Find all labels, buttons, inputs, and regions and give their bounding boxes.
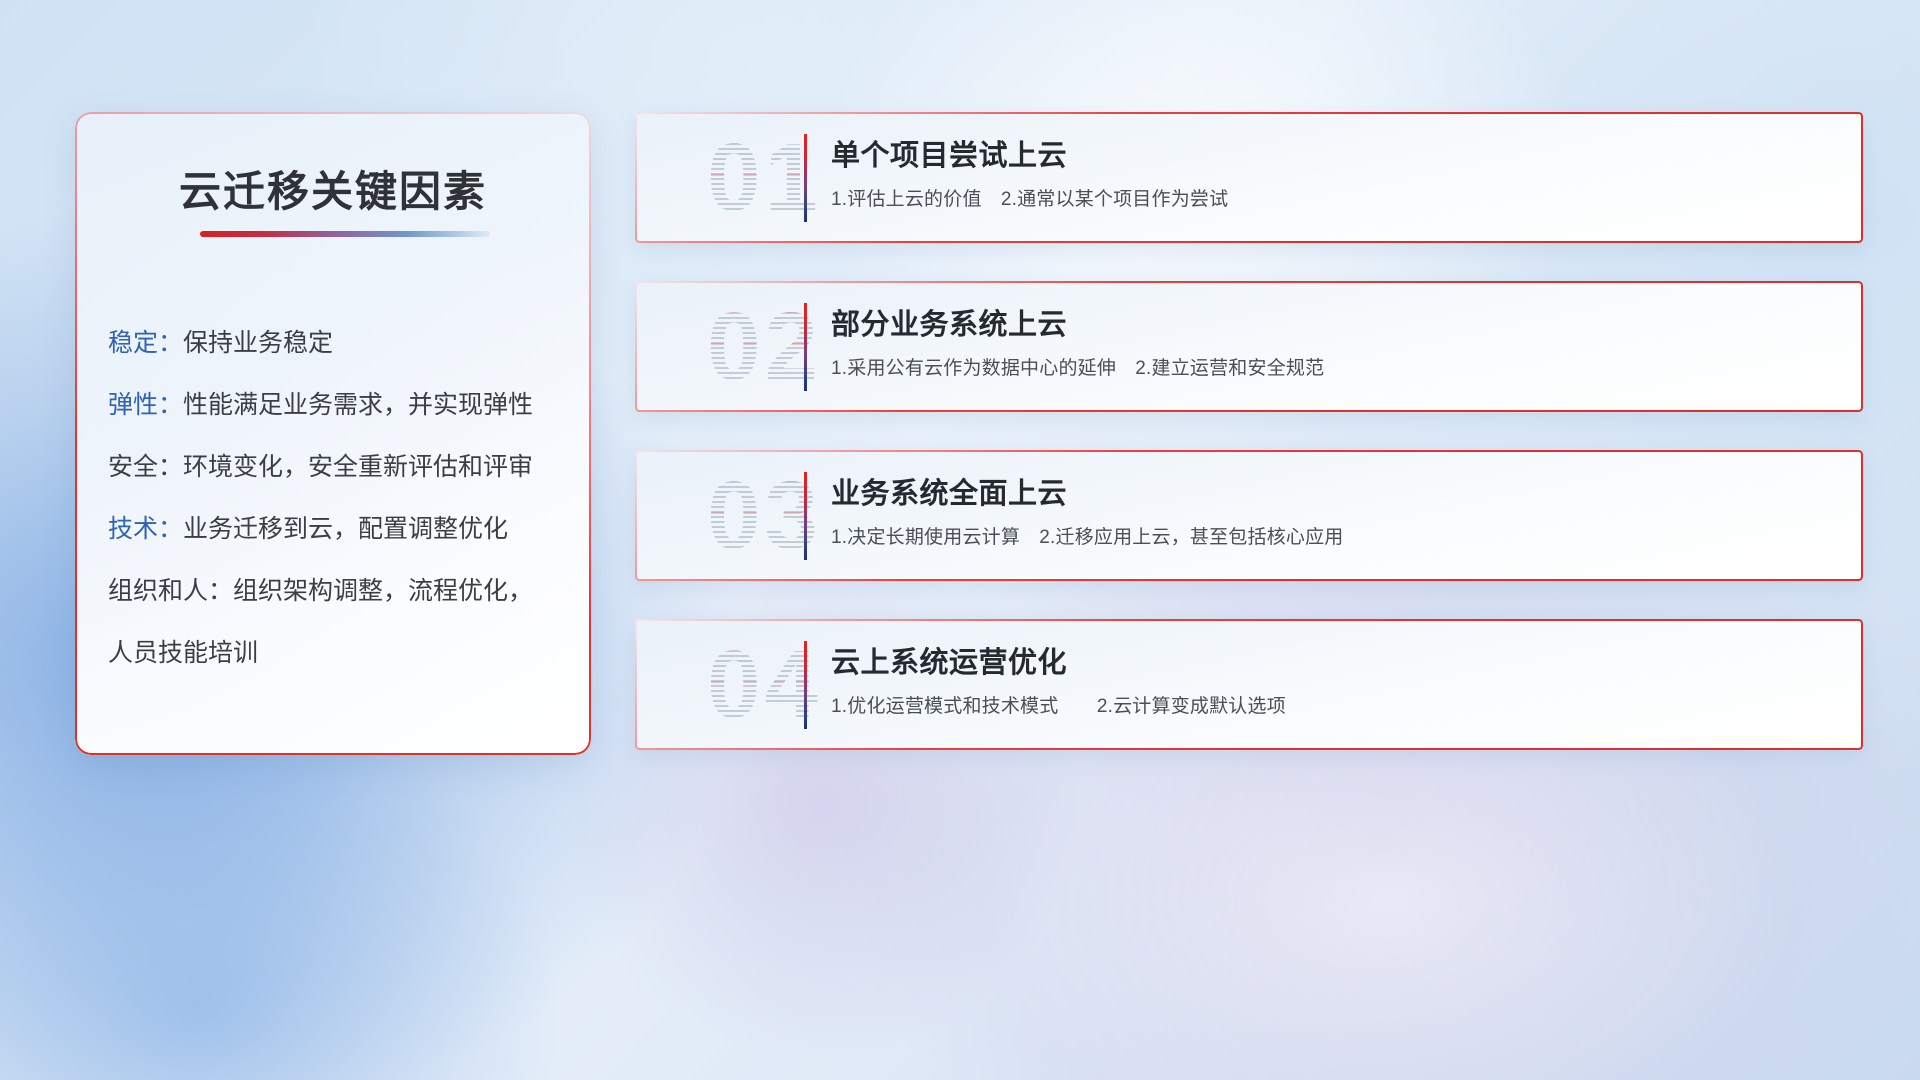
- background-bloom-bottom-left: [0, 700, 560, 1080]
- key-factor-label: 弹性：: [108, 391, 183, 419]
- stage-description: 1.决定长期使用云计算 2.迁移应用上云，甚至包括核心应用: [831, 524, 1839, 552]
- key-factor-row: 人员技能培训: [108, 622, 571, 684]
- key-factor-label: 组织和人：: [108, 577, 233, 605]
- stage-divider-bar: [804, 472, 807, 560]
- stage-card-body: 单个项目尝试上云1.评估上云的价值 2.通常以某个项目作为尝试: [831, 136, 1839, 214]
- key-factor-label: 安全：: [108, 453, 183, 481]
- key-factor-row: 安全：环境变化，安全重新评估和评审: [108, 436, 571, 498]
- stage-card-body: 云上系统运营优化1.优化运营模式和技术模式 2.云计算变成默认选项: [831, 643, 1839, 721]
- stage-card[interactable]: 0404云上系统运营优化1.优化运营模式和技术模式 2.云计算变成默认选项: [635, 619, 1863, 750]
- stage-card-body: 部分业务系统上云1.采用公有云作为数据中心的延伸 2.建立运营和安全规范: [831, 305, 1839, 383]
- key-factor-label: 技术：: [108, 515, 183, 543]
- key-factor-value: 业务迁移到云，配置调整优化: [183, 515, 508, 543]
- stage-card[interactable]: 0303业务系统全面上云1.决定长期使用云计算 2.迁移应用上云，甚至包括核心应…: [635, 450, 1863, 581]
- stage-title: 单个项目尝试上云: [831, 136, 1839, 176]
- key-factors-list: 稳定：保持业务稳定弹性：性能满足业务需求，并实现弹性安全：环境变化，安全重新评估…: [108, 312, 571, 684]
- key-factor-value: 保持业务稳定: [183, 329, 333, 357]
- page-title: 云迁移关键因素: [75, 158, 591, 219]
- key-factor-row: 技术：业务迁移到云，配置调整优化: [108, 498, 571, 560]
- key-factor-row: 弹性：性能满足业务需求，并实现弹性: [108, 374, 571, 436]
- stage-card-body: 业务系统全面上云1.决定长期使用云计算 2.迁移应用上云，甚至包括核心应用: [831, 474, 1839, 552]
- stage-title: 云上系统运营优化: [831, 643, 1839, 683]
- key-factor-row: 稳定：保持业务稳定: [108, 312, 571, 374]
- stage-divider-bar: [804, 641, 807, 729]
- stage-divider-bar: [804, 303, 807, 391]
- stage-description: 1.优化运营模式和技术模式 2.云计算变成默认选项: [831, 693, 1839, 721]
- stage-card[interactable]: 0101单个项目尝试上云1.评估上云的价值 2.通常以某个项目作为尝试: [635, 112, 1863, 243]
- stage-divider-bar: [804, 134, 807, 222]
- key-factor-value: 环境变化，安全重新评估和评审: [183, 453, 533, 481]
- key-factor-value: 性能满足业务需求，并实现弹性: [183, 391, 533, 419]
- key-factor-label: 稳定：: [108, 329, 183, 357]
- key-factor-row: 组织和人：组织架构调整，流程优化，: [108, 560, 571, 622]
- stage-title: 业务系统全面上云: [831, 474, 1839, 514]
- cloud-migration-stage-list: 0101单个项目尝试上云1.评估上云的价值 2.通常以某个项目作为尝试0202部…: [635, 112, 1863, 788]
- key-factors-panel: 云迁移关键因素 稳定：保持业务稳定弹性：性能满足业务需求，并实现弹性安全：环境变…: [75, 112, 591, 755]
- title-underline-rule: [200, 231, 490, 237]
- slide-canvas: 云迁移关键因素 稳定：保持业务稳定弹性：性能满足业务需求，并实现弹性安全：环境变…: [0, 0, 1920, 1080]
- key-factor-value: 人员技能培训: [108, 639, 258, 667]
- stage-description: 1.采用公有云作为数据中心的延伸 2.建立运营和安全规范: [831, 355, 1839, 383]
- stage-title: 部分业务系统上云: [831, 305, 1839, 345]
- key-factor-value: 组织架构调整，流程优化，: [233, 577, 533, 605]
- stage-description: 1.评估上云的价值 2.通常以某个项目作为尝试: [831, 186, 1839, 214]
- stage-card[interactable]: 0202部分业务系统上云1.采用公有云作为数据中心的延伸 2.建立运营和安全规范: [635, 281, 1863, 412]
